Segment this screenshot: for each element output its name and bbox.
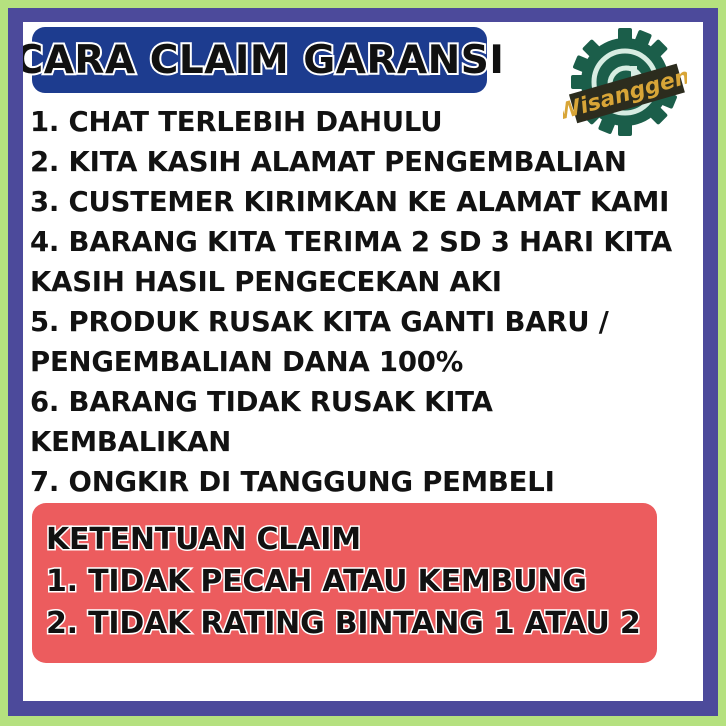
claim-step-line: 3. CUSTEMER KIRIMKAN KE ALAMAT KAMI	[30, 182, 699, 222]
claim-steps-list: 1. CHAT TERLEBIH DAHULU 2. KITA KASIH AL…	[30, 102, 699, 502]
title-banner: CARA CLAIM GARANSI	[32, 27, 487, 93]
claim-step-line: 4. BARANG KITA TERIMA 2 SD 3 HARI KITA	[30, 222, 699, 262]
claim-step-line: 1. CHAT TERLEBIH DAHULU	[30, 102, 699, 142]
claim-step-line: PENGEMBALIAN DANA 100%	[30, 342, 699, 382]
poster-content: CARA CLAIM GARANSI	[23, 22, 703, 701]
claim-terms-box: KETENTUAN CLAIM 1. TIDAK PECAH ATAU KEMB…	[32, 503, 657, 663]
claim-step-line: 6. BARANG TIDAK RUSAK KITA	[30, 382, 699, 422]
page-title: CARA CLAIM GARANSI	[23, 41, 504, 80]
terms-heading: KETENTUAN CLAIM	[46, 519, 657, 561]
claim-step-line: KEMBALIKAN	[30, 422, 699, 462]
claim-step-line: 5. PRODUK RUSAK KITA GANTI BARU /	[30, 302, 699, 342]
warranty-claim-poster: CARA CLAIM GARANSI	[0, 0, 726, 726]
terms-list-item: 2. TIDAK RATING BINTANG 1 ATAU 2	[46, 603, 657, 645]
claim-step-line: 2. KITA KASIH ALAMAT PENGEMBALIAN	[30, 142, 699, 182]
terms-list-item: 1. TIDAK PECAH ATAU KEMBUNG	[46, 561, 657, 603]
claim-step-line: 7. ONGKIR DI TANGGUNG PEMBELI	[30, 462, 699, 502]
claim-step-line: KASIH HASIL PENGECEKAN AKI	[30, 262, 699, 302]
poster-header: CARA CLAIM GARANSI	[23, 22, 703, 100]
